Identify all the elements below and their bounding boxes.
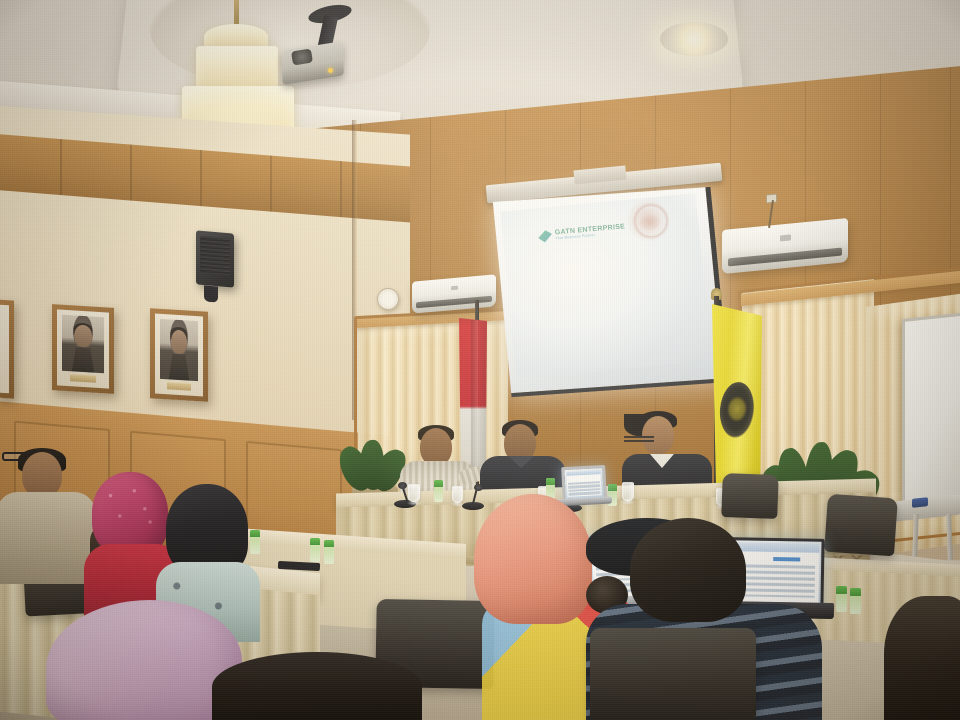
portrait-photo: [62, 315, 104, 374]
attendee-man-tan-shirt: [2, 452, 94, 582]
portrait-name-plaque: [167, 382, 191, 390]
official-portrait-2: [150, 308, 208, 402]
portrait-mat: [57, 309, 109, 388]
eyeglasses-icon: [624, 436, 654, 442]
bottle-cap-icon: [546, 478, 555, 485]
portrait-mat: [0, 305, 9, 394]
whiteboard-surface: [902, 313, 960, 511]
portrait-head: [74, 324, 92, 347]
water-glass: [408, 484, 420, 502]
hijab-scarf: [474, 494, 592, 624]
slide-emblem-inner: [639, 213, 660, 231]
water-bottle: [434, 480, 443, 502]
hijab-sequins: [96, 480, 162, 540]
bottle-cap-icon: [850, 588, 861, 596]
slide-logo-text: GATN ENTERPRISE Your Business Partner: [555, 224, 626, 242]
official-portrait-1: [52, 304, 114, 394]
water-bottle: [324, 540, 334, 564]
recessed-downlight-icon: [660, 22, 728, 56]
attendee-right-edge: [884, 596, 960, 720]
conference-chair: [721, 473, 779, 519]
portrait-photo: [160, 319, 198, 381]
ceiling-projector: [282, 6, 352, 86]
ac-vent: [728, 248, 841, 267]
laptop-display: [566, 470, 601, 497]
water-bottle: [850, 588, 861, 614]
projector-status-led-icon: [328, 68, 333, 73]
attendee-foreground-dark: [212, 652, 422, 720]
water-bottle: [836, 586, 847, 612]
wall-clock-icon: [377, 288, 399, 310]
speaker-grille-icon: [200, 236, 230, 276]
ac-logo-icon: [451, 286, 459, 291]
microphone-head-icon: [398, 482, 407, 489]
conference-chair: [824, 494, 898, 557]
slide-leaf-icon: [538, 230, 553, 243]
projection-screen: GATN ENTERPRISE Your Business Partner: [486, 168, 726, 398]
bottle-cap-icon: [608, 484, 617, 491]
bottle-cap-icon: [324, 540, 334, 547]
photograph-scene: GATN ENTERPRISE Your Business Partner: [0, 0, 960, 720]
projector-body: [282, 41, 344, 85]
attendee-shirt: [0, 492, 96, 584]
water-glass: [452, 486, 463, 503]
speaker-bracket: [204, 285, 218, 302]
framed-picture: [0, 299, 14, 398]
spreadsheet-toolbar: [566, 470, 600, 476]
bottle-cap-icon: [310, 538, 320, 545]
portrait-mat: [155, 314, 203, 397]
wall-speaker: [196, 230, 234, 287]
whiteboard-marker-icon: [912, 497, 928, 508]
ac-logo-icon: [780, 235, 791, 242]
microphone-head-icon: [474, 484, 483, 491]
flag-emblem-inner: [726, 395, 748, 423]
bottle-cap-icon: [434, 480, 443, 487]
attendee-hair: [630, 518, 746, 622]
screen-surface: [493, 187, 729, 397]
chandelier-chain: [234, 0, 239, 26]
conference-chair: [590, 628, 756, 720]
portrait-name-plaque: [70, 374, 96, 383]
portrait-head: [171, 329, 187, 354]
panelist-head: [642, 416, 674, 454]
bottle-cap-icon: [836, 586, 847, 594]
portrait-body: [163, 353, 195, 381]
portrait-body: [65, 346, 100, 373]
